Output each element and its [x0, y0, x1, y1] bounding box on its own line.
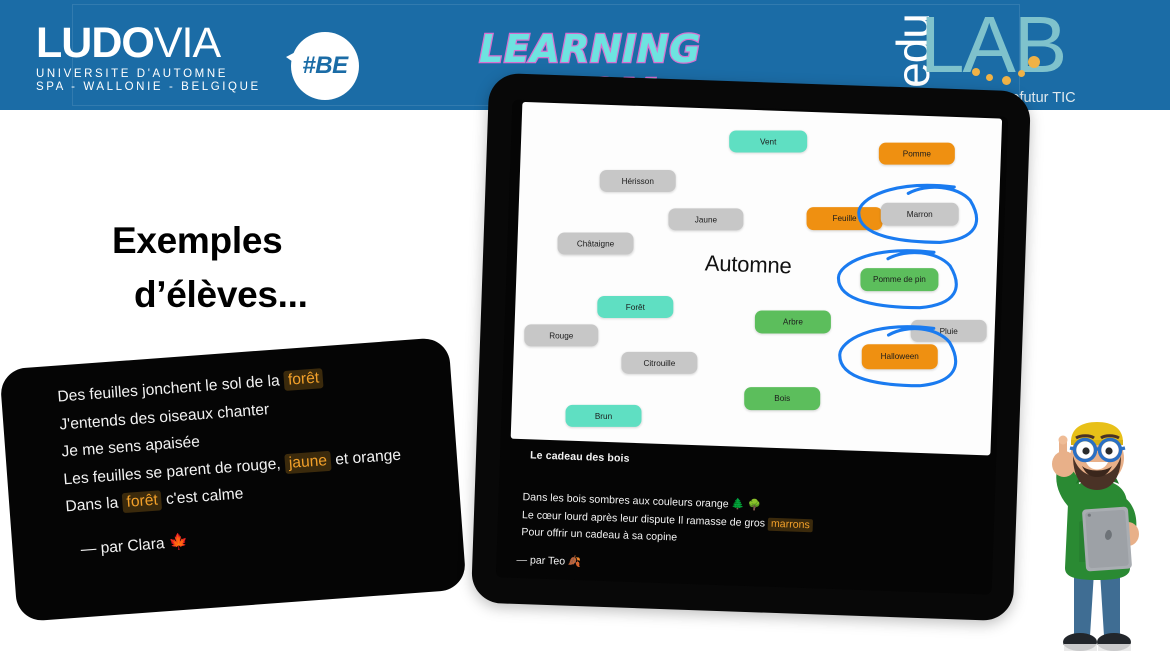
teo-poem-title: Le cadeau des bois [530, 449, 630, 464]
mascot-tablet-prop [1082, 506, 1132, 571]
section-heading-line1: Exemples [112, 220, 282, 261]
clara-poem-lines: Des feuilles jonchent le sol de la forêt… [57, 354, 466, 520]
mindmap-tag[interactable]: Citrouille [621, 352, 697, 374]
teo-poem-lines: Dans les bois sombres aux couleurs orang… [521, 489, 983, 558]
clara-signature: — par Clara 🍁 [80, 532, 189, 559]
teo-poem-zone: Le cadeau des bois Dans les bois sombres… [506, 445, 990, 592]
ludovia-wordmark-light: VIA [154, 19, 220, 67]
mindmap-tag[interactable]: Pomme [879, 143, 955, 165]
be-badge: #BE [291, 32, 359, 100]
ludovia-subtitle-2: SPA - WALLONIE - BELGIQUE [36, 81, 336, 94]
mindmap-center-title: Automne [704, 250, 792, 279]
mascot-character [1024, 422, 1170, 659]
section-heading-line2: d’élèves... [134, 268, 432, 322]
mindmap-tag-label: Vent [760, 137, 776, 146]
mindmap-tag-label: Marron [907, 210, 933, 219]
mindmap-tag[interactable]: Jaune [668, 208, 743, 230]
mindmap-tag-label: Forêt [626, 302, 645, 311]
mindmap-tag[interactable]: Feuille [807, 207, 883, 230]
mindmap-tag[interactable]: Pomme de pin [860, 268, 938, 291]
section-heading: Exemples d’élèves... [112, 214, 432, 322]
mindmap-tag-label: Châtaigne [577, 239, 614, 248]
edulab-dots-icon [972, 54, 1052, 84]
highlighted-keyword: forêt [283, 368, 324, 391]
highlighted-keyword: marrons [768, 517, 813, 532]
mindmap-tag-label: Bois [774, 394, 790, 403]
mindmap-tag[interactable]: Arbre [755, 310, 831, 333]
mindmap-tag-label: Pomme de pin [873, 275, 926, 284]
mindmap-tag[interactable]: Châtaigne [558, 233, 634, 255]
mindmap-tag[interactable]: Halloween [862, 344, 938, 369]
mindmap-tag[interactable]: Pluie [911, 320, 987, 342]
mindmap-tag-label: Hérisson [622, 176, 654, 185]
mindmap-tag[interactable]: Bois [744, 387, 820, 410]
mindmap-canvas[interactable]: Automne VentPommeHérissonFeuilleMarronJa… [511, 102, 1002, 456]
teo-signature: — par Teo 🍂 [516, 553, 581, 568]
mindmap-tag[interactable]: Rouge [524, 324, 598, 346]
poem-text: Dans la [65, 494, 123, 515]
tablet-device: Automne VentPommeHérissonFeuilleMarronJa… [471, 73, 1031, 622]
mindmap-tag[interactable]: Forêt [597, 296, 673, 318]
mindmap-tag-label: Arbre [783, 317, 803, 326]
mindmap-tag[interactable]: Marron [881, 203, 959, 226]
tablet-screen[interactable]: Automne VentPommeHérissonFeuilleMarronJa… [496, 100, 1008, 595]
mindmap-tag-label: Halloween [881, 352, 919, 361]
ludovia-wordmark-bold: LUDO [36, 19, 154, 67]
highlighted-keyword: forêt [122, 490, 163, 513]
mindmap-tag-label: Pomme [903, 149, 931, 158]
be-badge-label: #BE [302, 52, 347, 80]
mindmap-tag-label: Pluie [940, 326, 958, 335]
mindmap-tag[interactable]: Hérisson [600, 170, 676, 192]
mindmap-tag-label: Jaune [695, 215, 717, 224]
mindmap-tag-label: Feuille [832, 214, 856, 223]
poem-text: c'est calme [161, 485, 244, 508]
ludovia-logo: LUDOVIA UNIVERSITE D'AUTOMNE SPA - WALLO… [36, 20, 336, 92]
mindmap-tag-label: Brun [595, 411, 612, 420]
mindmap-tag[interactable]: Vent [729, 130, 807, 152]
mindmap-tag[interactable]: Brun [566, 405, 642, 427]
poem-text: et orange [330, 446, 401, 468]
clara-poem-card: Des feuilles jonchent le sol de la forêt… [0, 337, 467, 622]
mindmap-tag-label: Citrouille [643, 358, 675, 367]
highlighted-keyword: jaune [284, 450, 331, 473]
poem-text: Pour offrir un cadeau à sa copine [521, 526, 677, 543]
mindmap-tag-label: Rouge [549, 331, 573, 340]
poem-text: Je me sens apaisée [61, 433, 201, 460]
